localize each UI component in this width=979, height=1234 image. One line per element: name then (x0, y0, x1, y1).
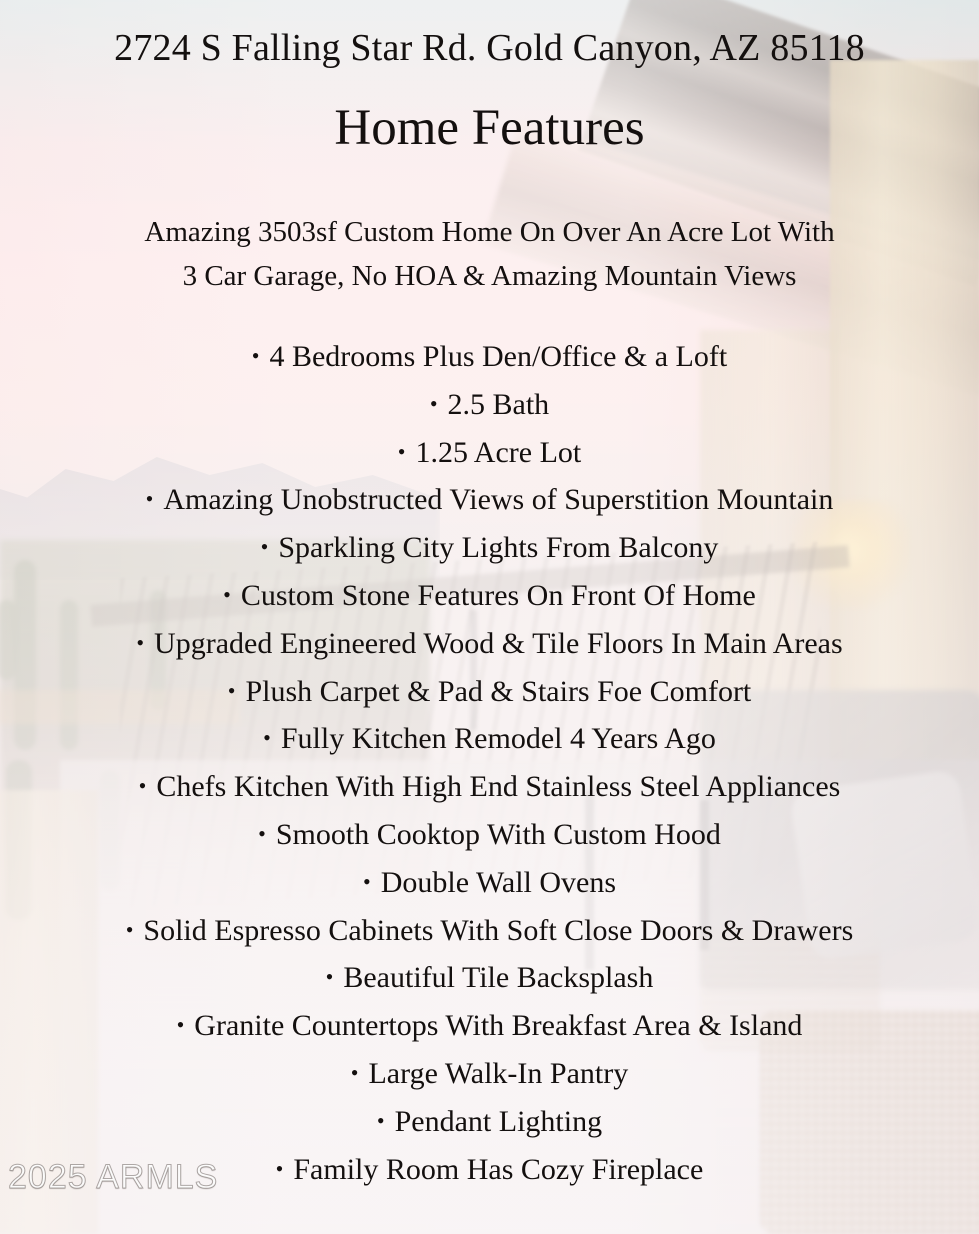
bullet-icon: • (377, 1098, 385, 1145)
feature-list-item: •Granite Countertops With Breakfast Area… (0, 1002, 979, 1050)
feature-list-item: •Custom Stone Features On Front Of Home (0, 572, 979, 620)
bullet-icon: • (430, 381, 438, 428)
bullet-icon: • (146, 476, 154, 523)
feature-list-item: •Upgraded Engineered Wood & Tile Floors … (0, 620, 979, 668)
bullet-icon: • (177, 1002, 185, 1049)
property-flyer: 2724 S Falling Star Rd. Gold Canyon, AZ … (0, 0, 979, 1234)
feature-list-item-label: Chefs Kitchen With High End Stainless St… (156, 770, 840, 803)
bullet-icon: • (126, 907, 134, 954)
bullet-icon: • (363, 859, 371, 906)
feature-list-item: •4 Bedrooms Plus Den/Office & a Loft (0, 333, 979, 381)
feature-list-item: •Double Wall Ovens (0, 859, 979, 907)
page-title: Home Features (0, 100, 979, 156)
property-summary-line-1: Amazing 3503sf Custom Home On Over An Ac… (40, 210, 939, 254)
property-summary-line-2: 3 Car Garage, No HOA & Amazing Mountain … (40, 254, 939, 298)
bullet-icon: • (398, 429, 406, 476)
feature-list-item-label: Granite Countertops With Breakfast Area … (194, 1009, 802, 1042)
bullet-icon: • (351, 1050, 359, 1097)
bullet-icon: • (258, 811, 266, 858)
bullet-icon: • (326, 954, 334, 1001)
feature-list-item: •Plush Carpet & Pad & Stairs Foe Comfort (0, 668, 979, 716)
armls-watermark: 2025 ARMLS (8, 1158, 218, 1197)
feature-list-item: •2.5 Bath (0, 381, 979, 429)
home-features-list: •4 Bedrooms Plus Den/Office & a Loft•2.5… (0, 333, 979, 1193)
feature-list-item-label: Double Wall Ovens (381, 866, 616, 899)
property-summary: Amazing 3503sf Custom Home On Over An Ac… (40, 210, 939, 298)
feature-list-item-label: Large Walk-In Pantry (368, 1057, 628, 1090)
feature-list-item-label: Solid Espresso Cabinets With Soft Close … (143, 914, 853, 947)
feature-list-item-label: Family Room Has Cozy Fireplace (293, 1153, 703, 1186)
bullet-icon: • (136, 620, 144, 667)
feature-list-item-label: Sparkling City Lights From Balcony (278, 531, 718, 564)
feature-list-item-label: 1.25 Acre Lot (415, 436, 581, 469)
feature-list-item: •Amazing Unobstructed Views of Superstit… (0, 476, 979, 524)
feature-list-item: •Beautiful Tile Backsplash (0, 954, 979, 1002)
feature-list-item-label: Smooth Cooktop With Custom Hood (276, 818, 721, 851)
feature-list-item: •Pendant Lighting (0, 1098, 979, 1146)
feature-list-item: •Solid Espresso Cabinets With Soft Close… (0, 907, 979, 955)
bullet-icon: • (252, 333, 260, 380)
feature-list-item: •1.25 Acre Lot (0, 429, 979, 477)
bullet-icon: • (263, 715, 271, 762)
feature-list-item-label: Custom Stone Features On Front Of Home (241, 579, 756, 612)
feature-list-item-label: 2.5 Bath (448, 388, 550, 421)
feature-list-item: •Chefs Kitchen With High End Stainless S… (0, 763, 979, 811)
bullet-icon: • (139, 763, 147, 810)
feature-list-item-label: Beautiful Tile Backsplash (343, 961, 653, 994)
feature-list-item-label: Amazing Unobstructed Views of Superstiti… (163, 483, 833, 516)
feature-list-item: •Sparkling City Lights From Balcony (0, 524, 979, 572)
feature-list-item-label: Pendant Lighting (395, 1105, 602, 1138)
bullet-icon: • (223, 572, 231, 619)
feature-list-item: •Fully Kitchen Remodel 4 Years Ago (0, 715, 979, 763)
bullet-icon: • (261, 524, 269, 571)
feature-list-item-label: Plush Carpet & Pad & Stairs Foe Comfort (245, 675, 751, 708)
feature-list-item-label: Fully Kitchen Remodel 4 Years Ago (281, 722, 716, 755)
feature-list-item-label: Upgraded Engineered Wood & Tile Floors I… (154, 627, 843, 660)
feature-list-item-label: 4 Bedrooms Plus Den/Office & a Loft (269, 340, 727, 373)
bullet-icon: • (228, 668, 236, 715)
feature-list-item: •Large Walk-In Pantry (0, 1050, 979, 1098)
feature-list-item: •Smooth Cooktop With Custom Hood (0, 811, 979, 859)
property-address-title: 2724 S Falling Star Rd. Gold Canyon, AZ … (0, 28, 979, 70)
bullet-icon: • (276, 1146, 284, 1193)
